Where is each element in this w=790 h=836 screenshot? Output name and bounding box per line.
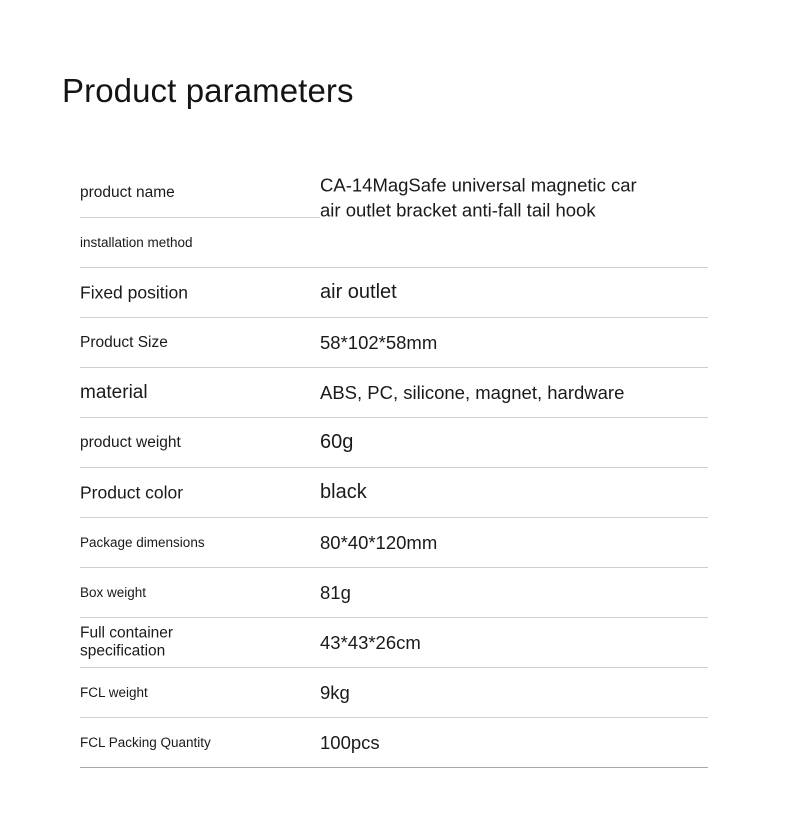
spec-value: 81g (320, 582, 351, 604)
spec-label: FCL Packing Quantity (80, 735, 310, 751)
spec-value: 58*102*58mm (320, 332, 437, 354)
spec-label: product weight (80, 433, 310, 451)
spec-label: FCL weight (80, 685, 310, 701)
table-row: Product Size 58*102*58mm (80, 318, 708, 368)
spec-label: product name (80, 183, 310, 201)
table-row: Full container specification 43*43*26cm (80, 618, 708, 668)
table-row: Product color black (80, 468, 708, 518)
table-row: Package dimensions 80*40*120mm (80, 518, 708, 568)
table-row: material ABS, PC, silicone, magnet, hard… (80, 368, 708, 418)
table-row: FCL weight 9kg (80, 668, 708, 718)
spec-label: Full container specification (80, 624, 310, 661)
table-row: product name CA-14MagSafe universal magn… (80, 168, 708, 218)
spec-label: Box weight (80, 585, 310, 601)
spec-value: 100pcs (320, 732, 380, 754)
spec-value: black (320, 481, 367, 505)
spec-table: product name CA-14MagSafe universal magn… (80, 168, 708, 768)
spec-label: Fixed position (80, 282, 310, 303)
table-row: FCL Packing Quantity 100pcs (80, 718, 708, 768)
spec-value: 60g (320, 431, 353, 455)
spec-value: 80*40*120mm (320, 532, 437, 554)
spec-label: installation method (80, 235, 310, 251)
spec-label: Product color (80, 482, 310, 503)
table-row: product weight 60g (80, 418, 708, 468)
spec-value: CA-14MagSafe universal magnetic car air … (320, 168, 722, 226)
spec-value: 43*43*26cm (320, 632, 421, 654)
page-title: Product parameters (62, 70, 354, 112)
table-row: Box weight 81g (80, 568, 708, 618)
spec-label: Package dimensions (80, 535, 310, 551)
spec-value: ABS, PC, silicone, magnet, hardware (320, 382, 624, 404)
spec-value: air outlet (320, 281, 397, 305)
table-row: Fixed position air outlet (80, 268, 708, 318)
spec-value: 9kg (320, 682, 350, 704)
product-parameters-page: Product parameters product name CA-14Mag… (0, 0, 790, 836)
spec-label: material (80, 381, 310, 403)
spec-label: Product Size (80, 333, 310, 351)
